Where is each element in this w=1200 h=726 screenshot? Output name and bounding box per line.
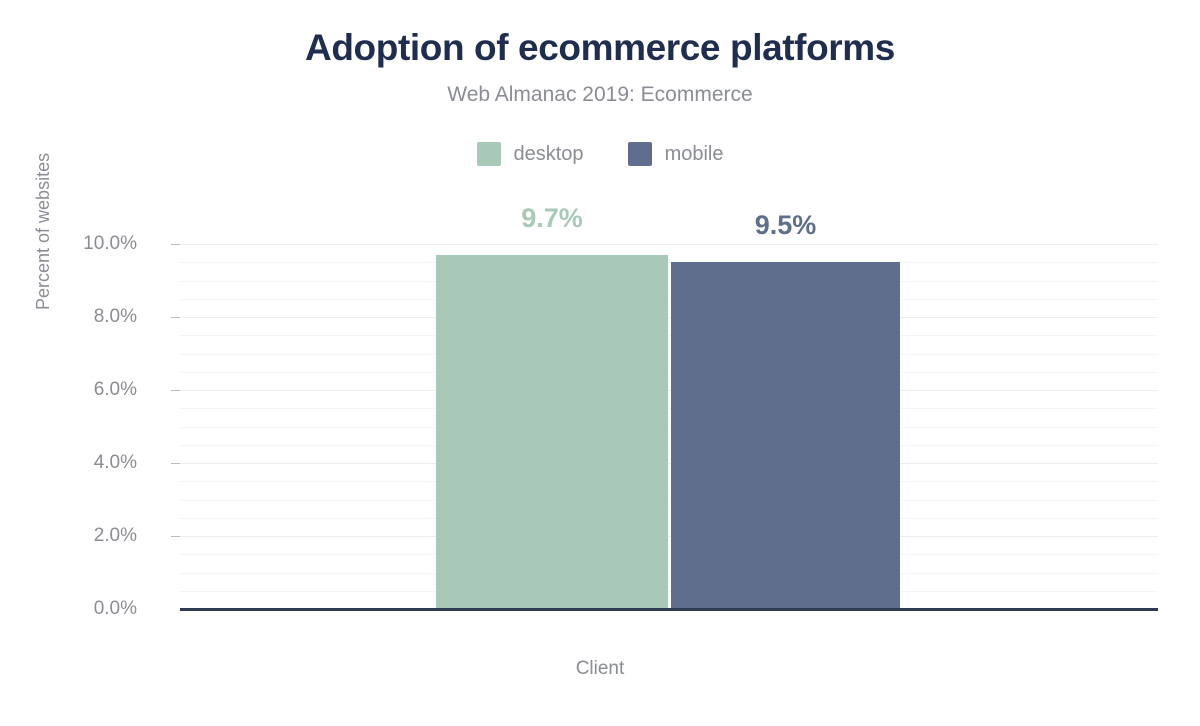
bar-series [180,244,1158,609]
legend-label-desktop: desktop [514,144,584,164]
y-axis-tick-mark [171,463,180,464]
legend-item-mobile[interactable]: mobile [628,142,724,166]
legend-swatch-mobile-icon [628,142,652,166]
y-axis-tick-label: 8.0% [94,306,137,328]
page-title: Adoption of ecommerce platforms [0,0,1200,69]
legend-label-mobile: mobile [665,144,724,164]
y-axis-tick-label: 10.0% [83,233,137,255]
x-axis-line [180,608,1158,611]
value-label-mobile: 9.5% [671,210,900,241]
y-axis-tick-mark [171,390,180,391]
chart-legend: desktop mobile [0,142,1200,166]
y-axis-tick-labels: 0.0%2.0%4.0%6.0%8.0%10.0% [0,0,168,726]
x-axis-title: Client [0,658,1200,680]
bar-desktop[interactable] [436,255,668,609]
y-axis-tick-label: 0.0% [94,598,137,620]
chart-subtitle: Web Almanac 2019: Ecommerce [0,69,1200,107]
y-axis-title: Percent of websites [33,153,54,310]
legend-swatch-desktop-icon [477,142,501,166]
y-axis-tick-label: 6.0% [94,379,137,401]
value-label-desktop: 9.7% [436,203,668,234]
plot-area [180,244,1158,609]
y-axis-tick-mark [171,536,180,537]
legend-item-desktop[interactable]: desktop [477,142,584,166]
y-axis-tick-label: 4.0% [94,452,137,474]
y-axis-tick-mark [171,244,180,245]
chart-header: Adoption of ecommerce platforms Web Alma… [0,0,1200,107]
bar-mobile[interactable] [671,262,900,609]
y-axis-tick-mark [171,317,180,318]
y-axis-tick-label: 2.0% [94,525,137,547]
